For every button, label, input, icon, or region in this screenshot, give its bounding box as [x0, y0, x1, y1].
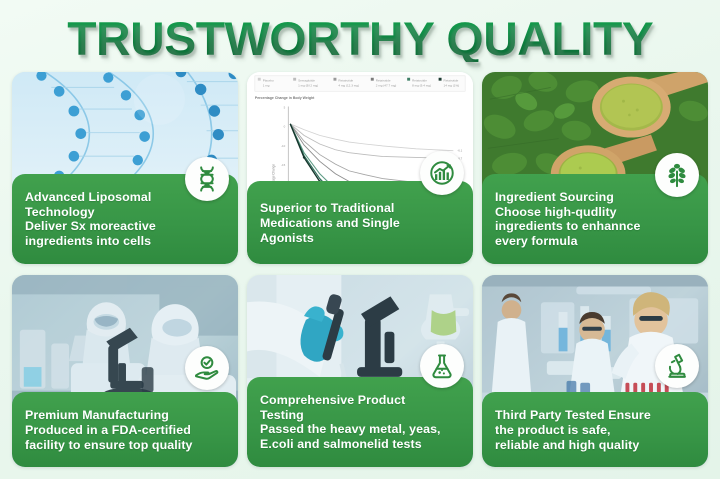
bar-chart-growth-icon [420, 151, 464, 195]
page-header: TRUSTWORTHY QUALITY [0, 0, 720, 72]
page-title: TRUSTWORTHY QUALITY [67, 15, 653, 62]
svg-text:-15: -15 [281, 163, 286, 167]
feature-card-advanced-liposomal-technology[interactable]: Advanced Liposomal Technology Deliver Sx… [12, 72, 238, 264]
card-line: Choose high-qudlity [495, 205, 697, 220]
card-line: Comprehensive Product [260, 393, 462, 408]
card-line: Third Party Tested Ensure [495, 408, 697, 423]
card-line: ingredients into cells [25, 234, 227, 249]
svg-text:Retatrutide: Retatrutide [338, 79, 353, 83]
card-text-band: Premium Manufacturing Produced in a FDA-… [12, 392, 238, 467]
svg-text:2 mg (47.7 mg): 2 mg (47.7 mg) [376, 83, 397, 87]
card-line: Testing [260, 408, 462, 423]
svg-text:-10: -10 [281, 144, 286, 148]
card-line: Passed the heavy metal, yeas, [260, 422, 462, 437]
feature-card-premium-manufacturing[interactable]: Premium Manufacturing Produced in a FDA-… [12, 275, 238, 467]
card-line: Medications and Single [260, 216, 462, 231]
card-text-band: Third Party Tested Ensure the product is… [482, 392, 708, 467]
leaf-sprig-icon [655, 153, 699, 197]
svg-text:Placebo: Placebo [263, 79, 274, 83]
feature-card-third-party-tested[interactable]: Third Party Tested Ensure the product is… [482, 275, 708, 467]
feature-card-comprehensive-product-testing[interactable]: Comprehensive Product Testing Passed the… [247, 275, 473, 467]
svg-text:Retatrutide: Retatrutide [444, 79, 459, 83]
svg-text:-6.1: -6.1 [457, 149, 462, 153]
microscope-icon [655, 344, 699, 388]
hand-check-quality-icon [185, 346, 229, 390]
svg-text:1 mg (BI 2 mg): 1 mg (BI 2 mg) [298, 83, 318, 87]
feature-card-superior-to-traditional-medications[interactable]: Placebo1 mg Semaglutide1 mg (BI 2 mg) Re… [247, 72, 473, 264]
card-line: every formula [495, 234, 697, 249]
flask-icon [420, 344, 464, 388]
card-line: the product is safe, [495, 423, 697, 438]
card-line: Agonists [260, 231, 462, 246]
card-line: Produced in a FDA-certified [25, 423, 227, 438]
svg-text:Percentage Change in Body Weig: Percentage Change in Body Weight [255, 96, 315, 100]
card-line: reliable and high quality [495, 438, 697, 453]
card-line: facility to ensure top quality [25, 438, 227, 453]
svg-text:4 mg (12.3 mg): 4 mg (12.3 mg) [338, 83, 359, 87]
card-line: Deliver Sx moreactive [25, 219, 227, 234]
card-line: Superior to Traditional [260, 201, 462, 216]
card-line: Premium Manufacturing [25, 408, 227, 423]
feature-card-grid: Advanced Liposomal Technology Deliver Sx… [0, 72, 720, 479]
svg-text:Semaglutide: Semaglutide [298, 79, 315, 83]
svg-text:Retatrutide: Retatrutide [412, 79, 427, 83]
card-text-band: Comprehensive Product Testing Passed the… [247, 377, 473, 467]
svg-text:Retatrutide: Retatrutide [376, 79, 391, 83]
svg-text:8 mg (9.4 mg): 8 mg (9.4 mg) [412, 83, 431, 87]
dna-icon [185, 157, 229, 201]
svg-text:1 mg: 1 mg [263, 83, 270, 87]
card-line: Technology [25, 205, 227, 220]
feature-card-ingredient-sourcing[interactable]: Ingredient Sourcing Choose high-qudlity … [482, 72, 708, 264]
svg-text:14 mg (1%): 14 mg (1%) [444, 83, 460, 87]
card-line: E.coli and salmonelid tests [260, 437, 462, 452]
card-line: ingredients to enhannce [495, 219, 697, 234]
